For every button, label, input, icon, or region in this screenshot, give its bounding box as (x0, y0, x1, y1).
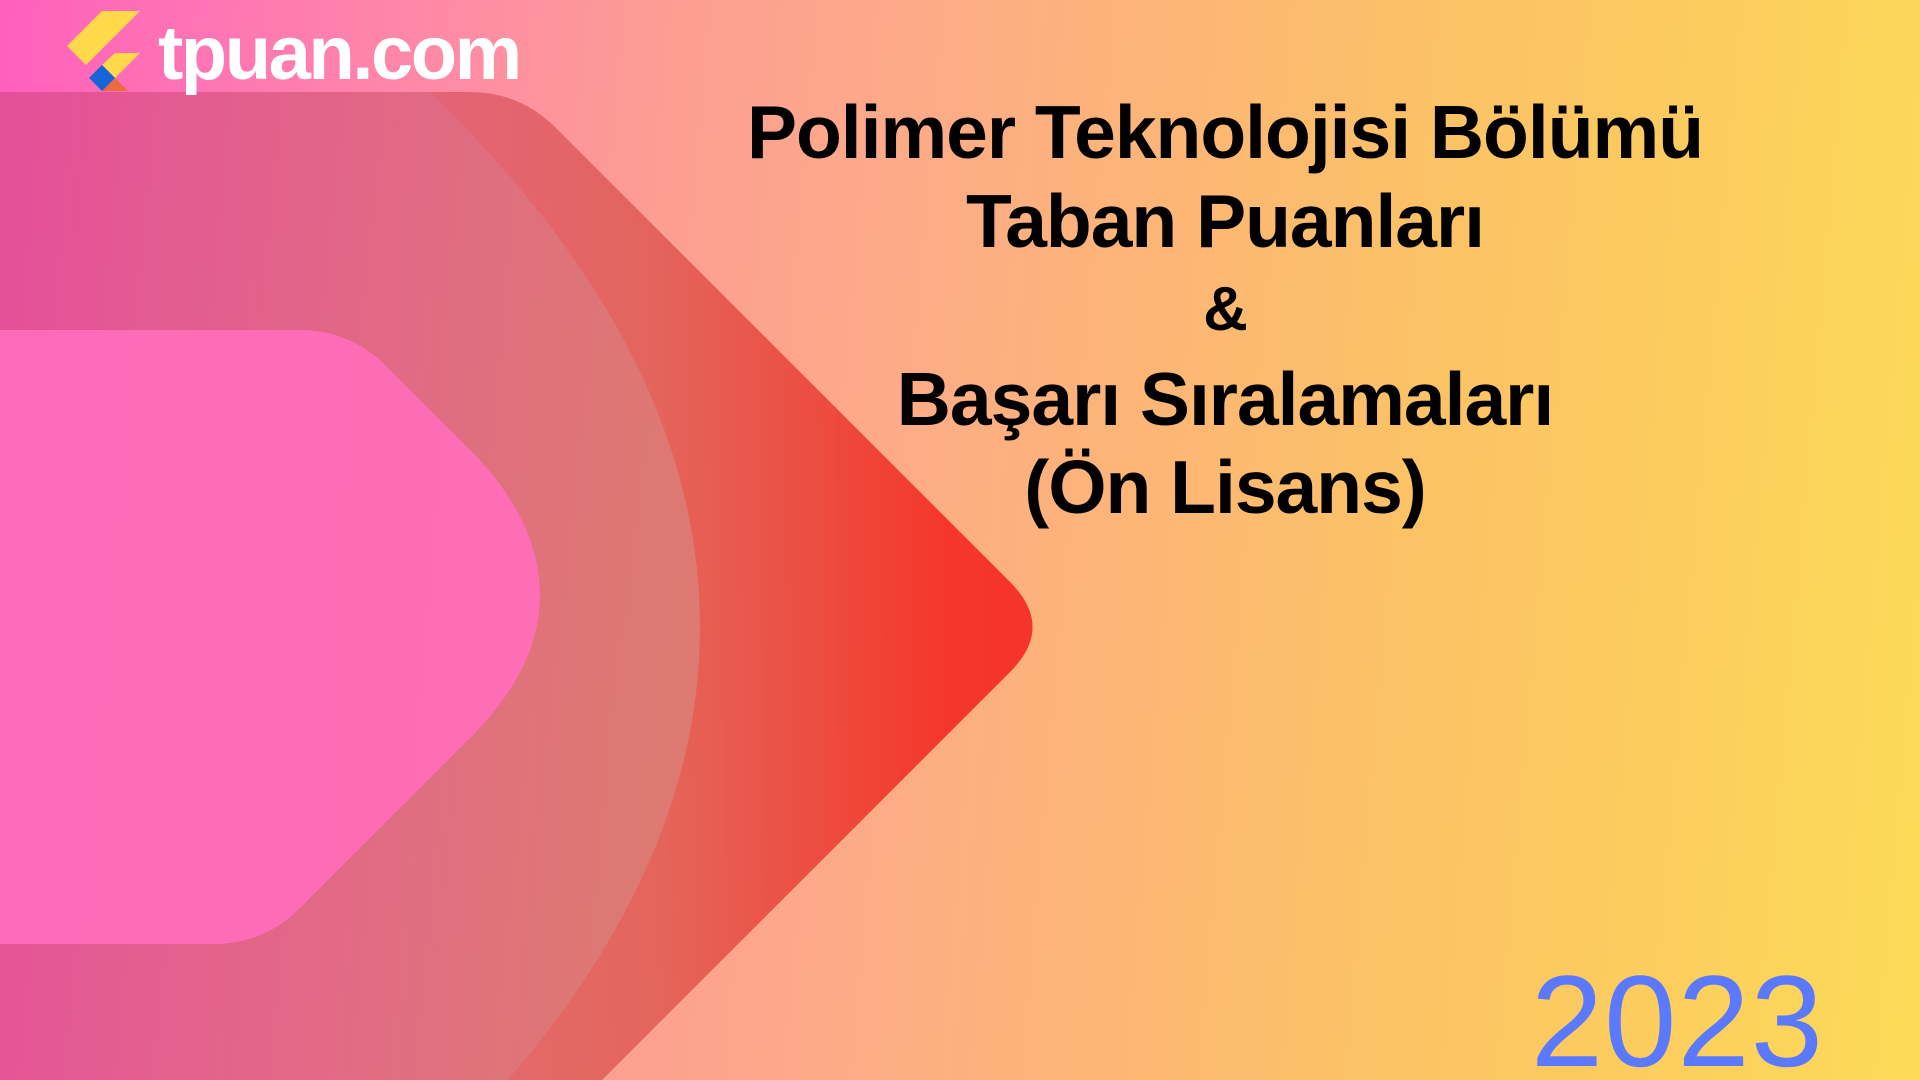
headline-line-4: Başarı Sıralamaları (560, 355, 1890, 444)
headline-line-3-ampersand: & (560, 265, 1890, 355)
chevron-inner-notch (0, 330, 540, 944)
brand-wordmark: tpuan.com (158, 16, 520, 92)
flutter-style-chevron-logo-icon (66, 9, 144, 99)
poster-canvas: tpuan.com Polimer Teknolojisi Bölümü Tab… (0, 0, 1920, 1080)
poster-headline: Polimer Teknolojisi Bölümü Taban Puanlar… (560, 88, 1890, 532)
headline-line-1: Polimer Teknolojisi Bölümü (560, 88, 1890, 177)
year-label: 2023 (1531, 956, 1824, 1080)
headline-line-2: Taban Puanları (560, 177, 1890, 266)
headline-line-5: (Ön Lisans) (560, 443, 1890, 532)
brand-logo[interactable]: tpuan.com (66, 6, 520, 102)
